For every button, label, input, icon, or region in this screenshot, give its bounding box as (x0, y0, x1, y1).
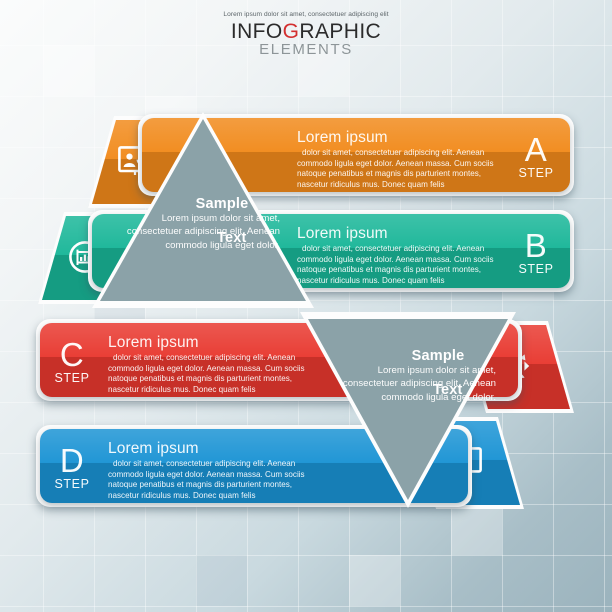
triangle-up[interactable]: Sample Text Lorem ipsum dolor sit amet, … (92, 112, 314, 308)
triangle-up-text: Sample Text Lorem ipsum dolor sit amet, … (114, 196, 280, 252)
infographic-canvas: Lorem ipsum dolor sit amet, consectetuer… (0, 0, 612, 612)
title-part-post: RAPHIC (299, 20, 381, 43)
triangle-down-heading-line2: Text (433, 382, 463, 398)
step-c-text: Lorem ipsum dolor sit amet, consectetuer… (108, 334, 321, 395)
step-d-body: dolor sit amet, consectetuer adipiscing … (108, 459, 321, 501)
step-a-body: dolor sit amet, consectetuer adipiscing … (297, 148, 510, 190)
step-a-label: A STEP (512, 133, 560, 180)
step-a-text: Lorem ipsum dolor sit amet, consectetuer… (297, 129, 510, 190)
step-a-letter: A (512, 133, 560, 166)
triangle-down-body (300, 312, 516, 508)
triangle-up-body: Lorem ipsum dolor sit amet, consectetuer… (114, 212, 280, 252)
step-d-heading: Lorem ipsum (108, 440, 321, 458)
step-c-letter: C (48, 338, 96, 371)
triangle-up-heading-line1: Sample (114, 196, 280, 212)
step-b-label: B STEP (512, 229, 560, 276)
step-c-body: dolor sit amet, consectetuer adipiscing … (108, 353, 321, 395)
step-a-heading: Lorem ipsum (297, 129, 510, 147)
title-part-pre: INFO (231, 20, 283, 43)
triangle-down-heading-line1: Sample (330, 348, 496, 364)
step-d-label: D STEP (48, 444, 96, 491)
step-d-text: Lorem ipsum dolor sit amet, consectetuer… (108, 440, 321, 501)
step-d-step-word: STEP (48, 478, 96, 491)
step-b-heading: Lorem ipsum (297, 225, 510, 243)
step-b-body: dolor sit amet, consectetuer adipiscing … (297, 244, 510, 286)
triangle-down-text: Sample Text Lorem ipsum dolor sit amet, … (330, 348, 496, 404)
step-c-label: C STEP (48, 338, 96, 385)
step-b-step-word: STEP (512, 263, 560, 276)
page-subtitle: ELEMENTS (0, 42, 612, 58)
header-tagline: Lorem ipsum dolor sit amet, consectetuer… (0, 11, 612, 18)
page-header: Lorem ipsum dolor sit amet, consectetuer… (0, 11, 612, 58)
triangle-up-heading-line2: Text (217, 230, 247, 246)
title-highlight-letter: G (283, 20, 300, 43)
step-c-step-word: STEP (48, 372, 96, 385)
step-b-letter: B (512, 229, 560, 262)
step-b-text: Lorem ipsum dolor sit amet, consectetuer… (297, 225, 510, 286)
page-title: INFOGRAPHIC (0, 21, 612, 42)
step-d-letter: D (48, 444, 96, 477)
step-a-step-word: STEP (512, 167, 560, 180)
triangle-down[interactable]: Sample Text Lorem ipsum dolor sit amet, … (300, 312, 516, 508)
step-c-heading: Lorem ipsum (108, 334, 321, 352)
triangle-down-body: Lorem ipsum dolor sit amet, consectetuer… (330, 364, 496, 404)
